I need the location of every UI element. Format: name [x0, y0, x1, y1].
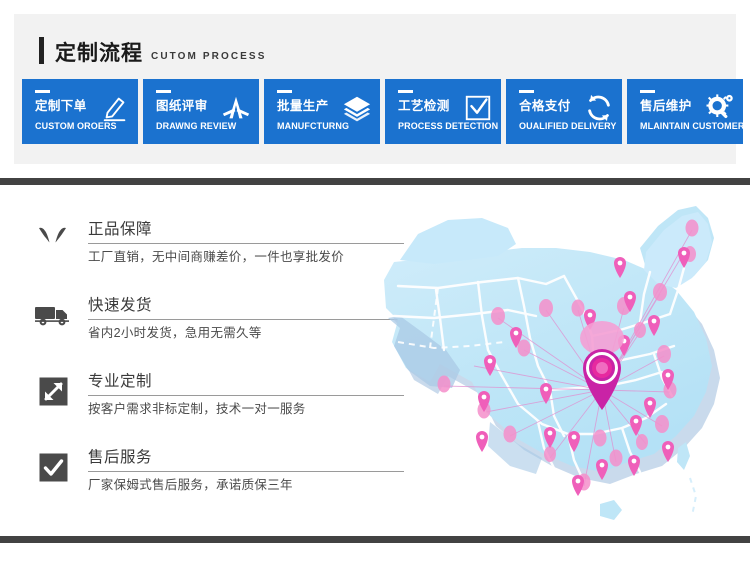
feature-desc: 厂家保姆式售后服务，承诺质保三年	[88, 472, 404, 497]
gear-search-icon	[705, 93, 735, 123]
process-section: 定制流程 CUTOM PROCESS 定制下单 CUSTOM OROERS	[14, 14, 736, 164]
feature-desc: 按客户需求非标定制，技术一对一服务	[88, 396, 404, 421]
process-card-list: 定制下单 CUSTOM OROERS 图纸评审 DRAWNG REVIEW	[22, 79, 728, 144]
feature-desc: 省内2小时发货，急用无需久等	[88, 320, 404, 345]
feature-title: 专业定制	[88, 371, 404, 396]
card-dash	[640, 90, 655, 93]
card-dash	[519, 90, 534, 93]
page-title: 定制流程 CUTOM PROCESS	[39, 37, 266, 64]
pencil-icon	[100, 93, 130, 123]
feature-body: 售后服务 厂家保姆式售后服务，承诺质保三年	[88, 447, 404, 497]
hands-protect-icon	[32, 221, 74, 257]
drafting-compass-icon	[221, 93, 251, 123]
feature-body: 快速发货 省内2小时发货，急用无需久等	[88, 295, 404, 345]
process-card-manufacturing[interactable]: 批量生产 MANUFCTURNG	[264, 79, 380, 144]
feature-title: 售后服务	[88, 447, 404, 472]
checkbox-icon	[463, 93, 493, 123]
feature-title: 正品保障	[88, 219, 404, 244]
feature-list: 正品保障 工厂直销，无中间商赚差价，一件也享批发价 快速发货 省内2小时发货，急…	[28, 205, 408, 509]
china-distribution-map	[378, 190, 750, 536]
truck-icon	[32, 297, 74, 333]
process-card-maintain-customer[interactable]: 售后维护 MLAINTAIN CUSTOMER	[627, 79, 743, 144]
card-dash	[156, 90, 171, 93]
card-title-cn: 定制下单	[35, 99, 87, 113]
feature-item-fast-shipping: 快速发货 省内2小时发货，急用无需久等	[28, 281, 408, 357]
feature-desc: 工厂直销，无中间商赚差价，一件也享批发价	[88, 244, 404, 269]
feature-item-authentic: 正品保障 工厂直销，无中间商赚差价，一件也享批发价	[28, 205, 408, 281]
section-divider-bottom	[0, 536, 750, 543]
refresh-cycle-icon	[584, 93, 614, 123]
card-title-cn: 图纸评审	[156, 99, 208, 113]
card-dash	[277, 90, 292, 93]
page-title-cn: 定制流程	[55, 43, 143, 64]
card-title-cn: 批量生产	[277, 99, 329, 113]
card-title-en: MANUFCTURNG	[277, 121, 349, 132]
feature-body: 正品保障 工厂直销，无中间商赚差价，一件也享批发价	[88, 219, 404, 269]
check-square-icon	[32, 449, 74, 485]
card-dash	[398, 90, 413, 93]
layers-icon	[342, 93, 372, 123]
feature-title: 快速发货	[88, 295, 404, 320]
feature-body: 专业定制 按客户需求非标定制，技术一对一服务	[88, 371, 404, 421]
card-title-cn: 合格支付	[519, 99, 571, 113]
card-title-cn: 工艺检测	[398, 99, 450, 113]
page-root: 定制流程 CUTOM PROCESS 定制下单 CUSTOM OROERS	[0, 0, 750, 567]
resize-arrow-icon	[32, 373, 74, 409]
process-card-qualified-delivery[interactable]: 合格支付 OUALIFIED DELIVERY	[506, 79, 622, 144]
feature-item-after-sales: 售后服务 厂家保姆式售后服务，承诺质保三年	[28, 433, 408, 509]
feature-item-custom: 专业定制 按客户需求非标定制，技术一对一服务	[28, 357, 408, 433]
process-card-process-detection[interactable]: 工艺检测 PROCESS DETECTION	[385, 79, 501, 144]
title-accent-bar	[39, 37, 44, 64]
page-title-en: CUTOM PROCESS	[151, 52, 266, 64]
card-title-cn: 售后维护	[640, 99, 692, 113]
card-dash	[35, 90, 50, 93]
process-card-drawing-review[interactable]: 图纸评审 DRAWNG REVIEW	[143, 79, 259, 144]
process-card-custom-orders[interactable]: 定制下单 CUSTOM OROERS	[22, 79, 138, 144]
section-divider-top	[0, 178, 750, 185]
